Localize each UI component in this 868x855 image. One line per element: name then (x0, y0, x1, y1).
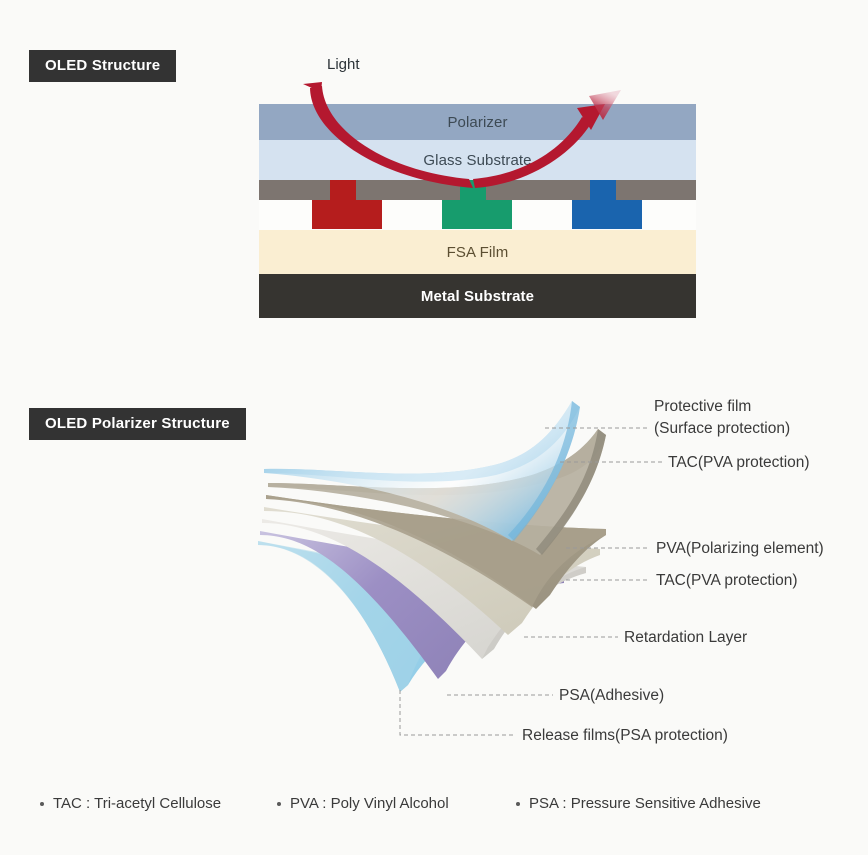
diagram-canvas: OLED Structure Polarizer Glass Substrate… (0, 0, 868, 855)
footnote-psa-text: PSA : Pressure Sensitive Adhesive (529, 795, 761, 812)
callout-tac-pva-protection-bottom: TAC(PVA protection) (656, 570, 798, 592)
callout-pva-polarizing-element: PVA(Polarizing element) (656, 538, 824, 560)
bullet-icon (277, 802, 281, 806)
callout-psa-adhesive: PSA(Adhesive) (559, 685, 664, 707)
callout-tac-pva-protection-top: TAC(PVA protection) (668, 452, 810, 474)
footnote-tac-text: TAC : Tri-acetyl Cellulose (53, 795, 221, 812)
callout-protective-film: Protective film (Surface protection) (654, 396, 790, 441)
callout-protective-film-line2: (Surface protection) (654, 418, 790, 440)
footnote-psa: PSA : Pressure Sensitive Adhesive (516, 795, 761, 812)
callout-retardation-layer: Retardation Layer (624, 627, 747, 649)
footnote-row: TAC : Tri-acetyl Cellulose PVA : Poly Vi… (0, 795, 868, 835)
leader-release-films (400, 690, 516, 735)
footnote-tac: TAC : Tri-acetyl Cellulose (40, 795, 221, 812)
bullet-icon (40, 802, 44, 806)
footnote-pva-text: PVA : Poly Vinyl Alcohol (290, 795, 449, 812)
callout-protective-film-line1: Protective film (654, 396, 790, 418)
callout-release-films: Release films(PSA protection) (522, 725, 728, 747)
footnote-pva: PVA : Poly Vinyl Alcohol (277, 795, 449, 812)
bullet-icon (516, 802, 520, 806)
